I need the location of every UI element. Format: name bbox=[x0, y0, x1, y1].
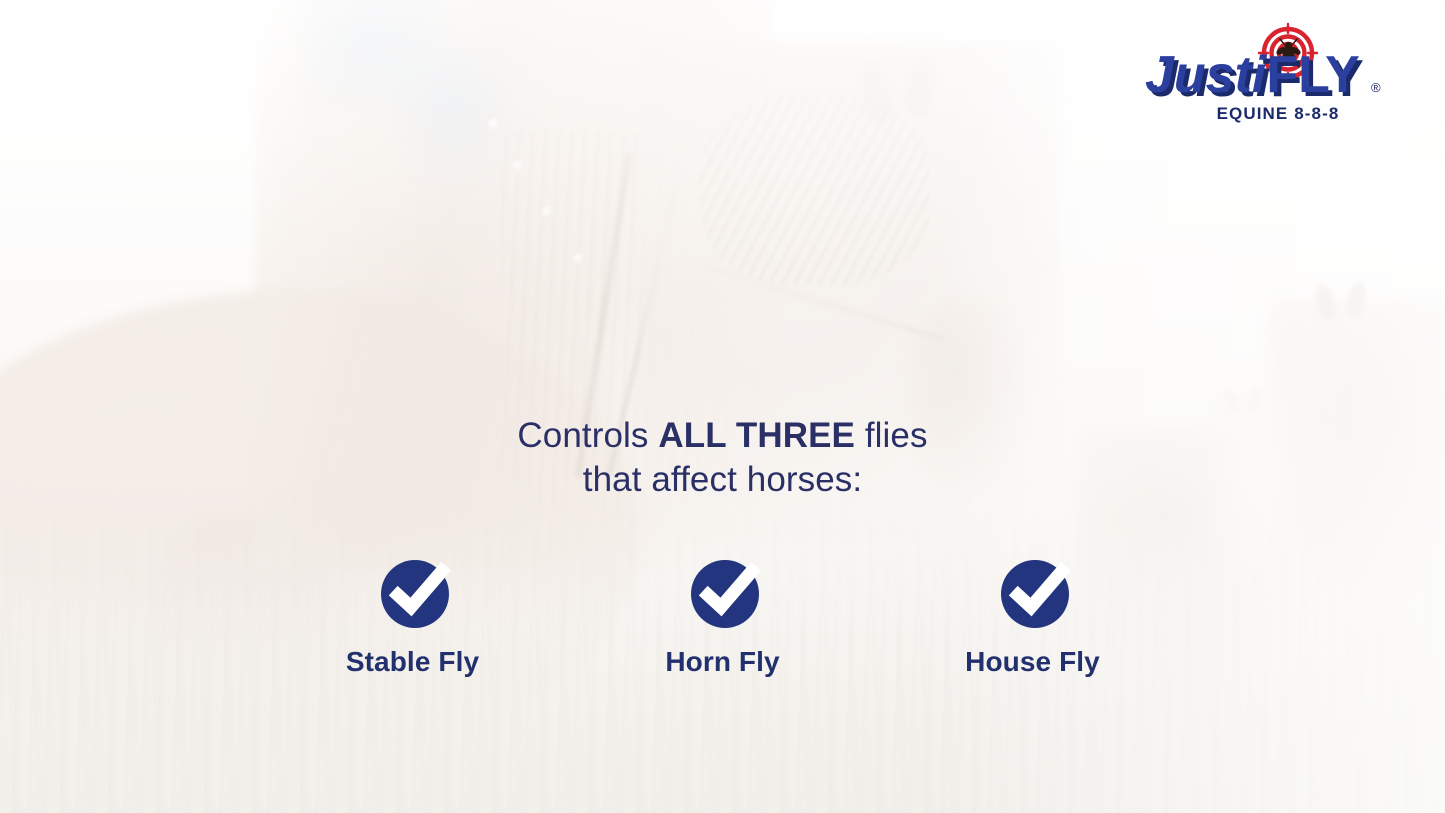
headline-suffix: flies bbox=[855, 416, 928, 455]
fly-types-list: Stable Fly Horn Fly House Fly bbox=[0, 560, 1445, 678]
headline-prefix: Controls bbox=[517, 416, 658, 455]
list-item-label: Stable Fly bbox=[346, 646, 479, 678]
logo-wordmark: JustiFLY JustiFLY bbox=[1145, 46, 1364, 108]
headline-line-1: Controls ALL THREE flies bbox=[0, 414, 1445, 458]
svg-text:JustiFLY: JustiFLY bbox=[1145, 46, 1360, 104]
ad-slide: JustiFLY JustiFLY ® EQUINE 8-8-8 Control… bbox=[0, 0, 1445, 813]
check-circle-icon bbox=[689, 560, 757, 628]
check-circle-icon bbox=[999, 560, 1067, 628]
logo-registered-mark: ® bbox=[1371, 80, 1381, 95]
list-item-label: House Fly bbox=[965, 646, 1100, 678]
headline-line-2: that affect horses: bbox=[0, 458, 1445, 502]
headline: Controls ALL THREE flies that affect hor… bbox=[0, 414, 1445, 502]
justifly-logo: JustiFLY JustiFLY ® EQUINE 8-8-8 bbox=[1143, 22, 1393, 127]
list-item-label: Horn Fly bbox=[665, 646, 779, 678]
list-item: House Fly bbox=[963, 560, 1103, 678]
list-item: Horn Fly bbox=[653, 560, 793, 678]
list-item: Stable Fly bbox=[343, 560, 483, 678]
check-circle-icon bbox=[379, 560, 447, 628]
headline-emphasis: ALL THREE bbox=[658, 416, 855, 455]
logo-subtitle: EQUINE 8-8-8 bbox=[1217, 104, 1340, 123]
